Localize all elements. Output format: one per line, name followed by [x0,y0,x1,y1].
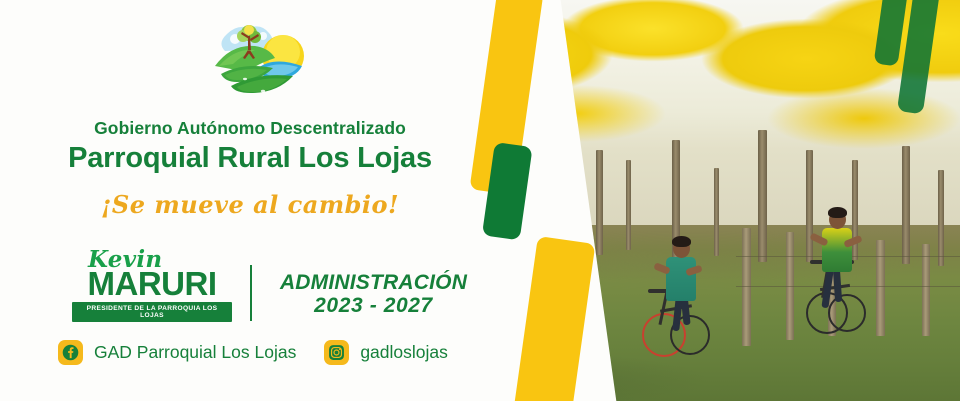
cyclist-torso [666,257,696,301]
cyclist-hair [672,236,691,247]
instagram-icon[interactable] [324,340,349,365]
logo-svg [205,22,315,102]
facebook-icon[interactable] [58,340,83,365]
tree-trunk [596,150,603,255]
tree-trunk [758,130,767,262]
cyclist-right [798,208,888,338]
instagram-glyph [328,344,345,361]
official-role-badge: PRESIDENTE DE LA PARROQUIA LOS LOJAS [72,302,232,322]
fence-post [742,228,751,346]
social-links: GAD Parroquial Los Lojas gadloslojas [58,340,448,365]
left-content-panel: Gobierno Autónomo Descentralizado Parroq… [0,0,500,401]
bicycle-wheel [828,294,866,332]
administration-label: ADMINISTRACIÓN [266,272,481,294]
slogan: ¡Se mueve al cambio! [0,190,500,219]
social-link-facebook[interactable]: GAD Parroquial Los Lojas [58,340,296,365]
administration-period: 2023 - 2027 [266,294,481,318]
facebook-label: GAD Parroquial Los Lojas [94,342,296,363]
cyclist-leg [833,268,842,302]
org-subtitle: Gobierno Autónomo Descentralizado [0,118,500,139]
official-last-name: MARURI [72,268,232,299]
cyclist-left [640,235,730,365]
gad-los-lojas-logo [205,22,315,102]
instagram-label: gadloslojas [360,342,448,363]
decorative-stripe-yellow-bottom [512,236,596,401]
social-link-instagram[interactable]: gadloslojas [324,340,448,365]
tree-trunk [902,146,910,264]
official-name-block: Kevin MARURI PRESIDENTE DE LA PARROQUIA … [72,248,232,322]
cyclist-torso [822,228,852,272]
facebook-glyph [62,344,79,361]
banner-root: Gobierno Autónomo Descentralizado Parroq… [0,0,960,401]
administration-block: ADMINISTRACIÓN 2023 - 2027 [266,272,481,318]
vertical-divider [250,265,252,321]
tree-trunk [626,160,631,250]
tree-trunk [938,170,944,266]
page-title: Parroquial Rural Los Lojas [0,142,500,175]
fence-post [922,244,930,336]
cyclist-hair [828,207,847,218]
